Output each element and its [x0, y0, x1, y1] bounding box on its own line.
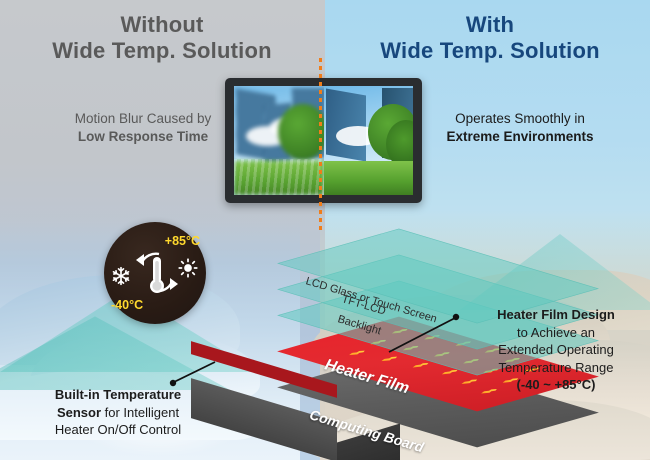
tree-blurred [278, 104, 324, 160]
heading-without-line1: Without [12, 12, 312, 38]
caption-operates-smoothly: Operates Smoothly in Extreme Environment… [400, 110, 640, 146]
caption-right-line2: Extreme Environments [400, 128, 640, 146]
anno-right-line3: Extended Operating [466, 341, 646, 359]
anno-left-line3: Heater On/Off Control [18, 421, 218, 439]
screen-blurred-half [234, 86, 324, 195]
anno-left-line2-bold: Sensor [57, 405, 101, 420]
heading-with-line1: With [340, 12, 640, 38]
snowflake-icon [111, 266, 131, 286]
monitor-screen [234, 86, 413, 195]
heading-with: With Wide Temp. Solution [340, 12, 640, 64]
badge-cold-label: -40°C [111, 298, 143, 312]
annotation-heater-film-design: Heater Film Design to Achieve an Extende… [466, 306, 646, 394]
anno-right-line5: (-40 ~ +85°C) [517, 377, 596, 392]
infographic-stage: Without Wide Temp. Solution With Wide Te… [0, 0, 650, 460]
comparison-divider [319, 58, 322, 233]
heading-without: Without Wide Temp. Solution [12, 12, 312, 64]
heading-with-line2: Wide Temp. Solution [340, 38, 640, 64]
motion-streaks [234, 159, 324, 195]
caption-right-line1: Operates Smoothly in [400, 110, 640, 128]
anno-right-line2: to Achieve an [466, 324, 646, 342]
annotation-temperature-sensor: Built-in Temperature Sensor for Intellig… [18, 386, 218, 439]
monitor-display [225, 78, 422, 203]
anno-left-line1: Built-in Temperature [55, 387, 181, 402]
anno-right-line1: Heater Film Design [497, 307, 615, 322]
heading-without-line2: Wide Temp. Solution [12, 38, 312, 64]
anno-left-line2-rest: for Intelligent [101, 405, 179, 420]
building-sharp-1 [326, 88, 366, 161]
grass-sharp [324, 161, 414, 195]
thermometer-icon [135, 248, 179, 298]
anno-right-line4: Temperature Range [466, 359, 646, 377]
screen-sharp-half [324, 86, 414, 195]
